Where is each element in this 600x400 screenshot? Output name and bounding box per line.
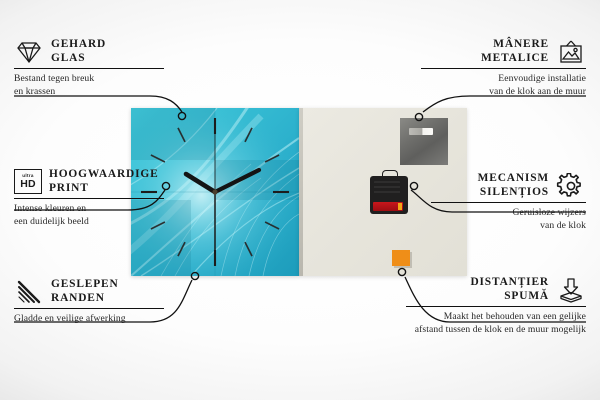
feature-title: DISTANȚIER SPUMĂ — [470, 276, 549, 303]
picture-frame-icon — [556, 39, 586, 65]
feature-title: GESLEPEN RANDEN — [51, 278, 119, 305]
feature-description: Intense kleuren en een duidelijk beeld — [14, 203, 164, 228]
feature-description: Gladde en veilige afwerking — [14, 313, 164, 325]
feature-title: MECANISM SILENȚIOS — [478, 172, 549, 199]
feature-description: Bestand tegen breuk en krassen — [14, 73, 164, 98]
feature-description: Geruisloze wijzers van de klok — [431, 207, 586, 232]
feature-foam-spacer: DISTANȚIER SPUMĂ Maakt het behouden van … — [406, 276, 586, 336]
feature-title: MÂNERE METALICE — [481, 38, 549, 65]
press-down-pad-icon — [556, 277, 586, 303]
feature-header: GEHARD GLAS — [14, 38, 164, 65]
diamond-icon — [14, 39, 44, 65]
ultra-hd-icon-large-label: HD — [20, 179, 36, 190]
hanger-slot — [409, 128, 433, 135]
foam-spacer-pad — [392, 250, 410, 266]
feature-title: GEHARD GLAS — [51, 38, 106, 65]
feature-header: MÂNERE METALICE — [421, 38, 586, 65]
feature-silent-mechanism: MECANISM SILENȚIOS Geruisloze wijzers va… — [431, 172, 586, 232]
divider — [14, 308, 164, 309]
divider — [14, 68, 164, 69]
feature-title: HOOGWAARDIGE PRINT — [49, 168, 159, 195]
infographic-canvas: GEHARD GLAS Bestand tegen breuk en krass… — [0, 0, 600, 400]
mechanism-hook — [382, 170, 398, 179]
feature-high-quality-print: ultra HD HOOGWAARDIGE PRINT Intense kleu… — [14, 168, 164, 228]
battery — [373, 202, 403, 211]
battery-tip — [398, 203, 402, 210]
gear-icon — [556, 173, 586, 199]
clock-mechanism — [370, 176, 408, 214]
feature-header: GESLEPEN RANDEN — [14, 278, 164, 305]
bevelled-edge-icon — [14, 279, 44, 305]
feature-polished-edges: GESLEPEN RANDEN Gladde en veilige afwerk… — [14, 278, 164, 326]
ultra-hd-icon: ultra HD — [14, 169, 42, 194]
feature-description: Eenvoudige installatie van de klok aan d… — [421, 73, 586, 98]
feature-header: MECANISM SILENȚIOS — [431, 172, 586, 199]
feature-description: Maakt het behouden van een gelijke afsta… — [406, 311, 586, 336]
divider — [406, 306, 586, 307]
feature-header: DISTANȚIER SPUMĂ — [406, 276, 586, 303]
metal-hanger — [400, 118, 448, 165]
feature-header: ultra HD HOOGWAARDIGE PRINT — [14, 168, 164, 195]
divider — [14, 198, 164, 199]
feature-metal-handles: MÂNERE METALICE Eenvoudige installatie v… — [421, 38, 586, 98]
divider — [431, 202, 586, 203]
divider — [421, 68, 586, 69]
back-panel-edge — [299, 108, 303, 276]
feature-tempered-glass: GEHARD GLAS Bestand tegen breuk en krass… — [14, 38, 164, 98]
mechanism-body-grille — [374, 181, 400, 195]
